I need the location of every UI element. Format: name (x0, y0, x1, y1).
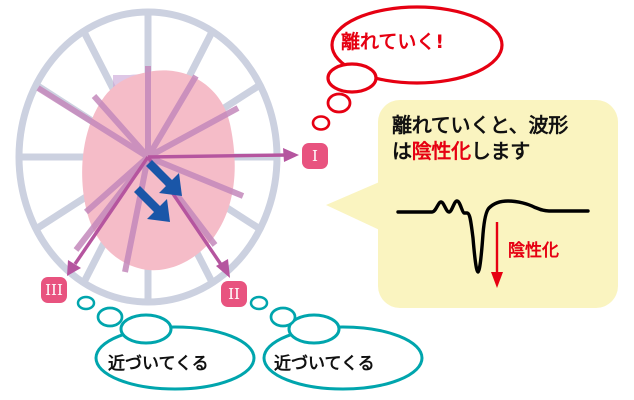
teal-thought-bubbles-graphic (0, 0, 634, 400)
teal-bubble-2-lobe (289, 315, 339, 343)
teal-bubble-1-dot-small (78, 297, 94, 309)
lead-badge-II[interactable]: II (221, 281, 247, 307)
teal-bubble-1-dot-large (98, 308, 122, 326)
teal-bubble-2-dot-small (251, 297, 267, 309)
lead-badge-III[interactable]: III (41, 277, 67, 303)
teal-bubble-label-2: 近づいてくる (274, 349, 375, 374)
teal-bubble-2-dot-large (271, 308, 295, 326)
teal-bubble-1-lobe (121, 315, 171, 343)
lead-badge-I[interactable]: I (302, 143, 328, 169)
teal-bubble-label-1: 近づいてくる (108, 349, 209, 374)
diagram-canvas: 離れていく! 離れていくと、波形 は陰性化します 陰性化 (0, 0, 634, 400)
